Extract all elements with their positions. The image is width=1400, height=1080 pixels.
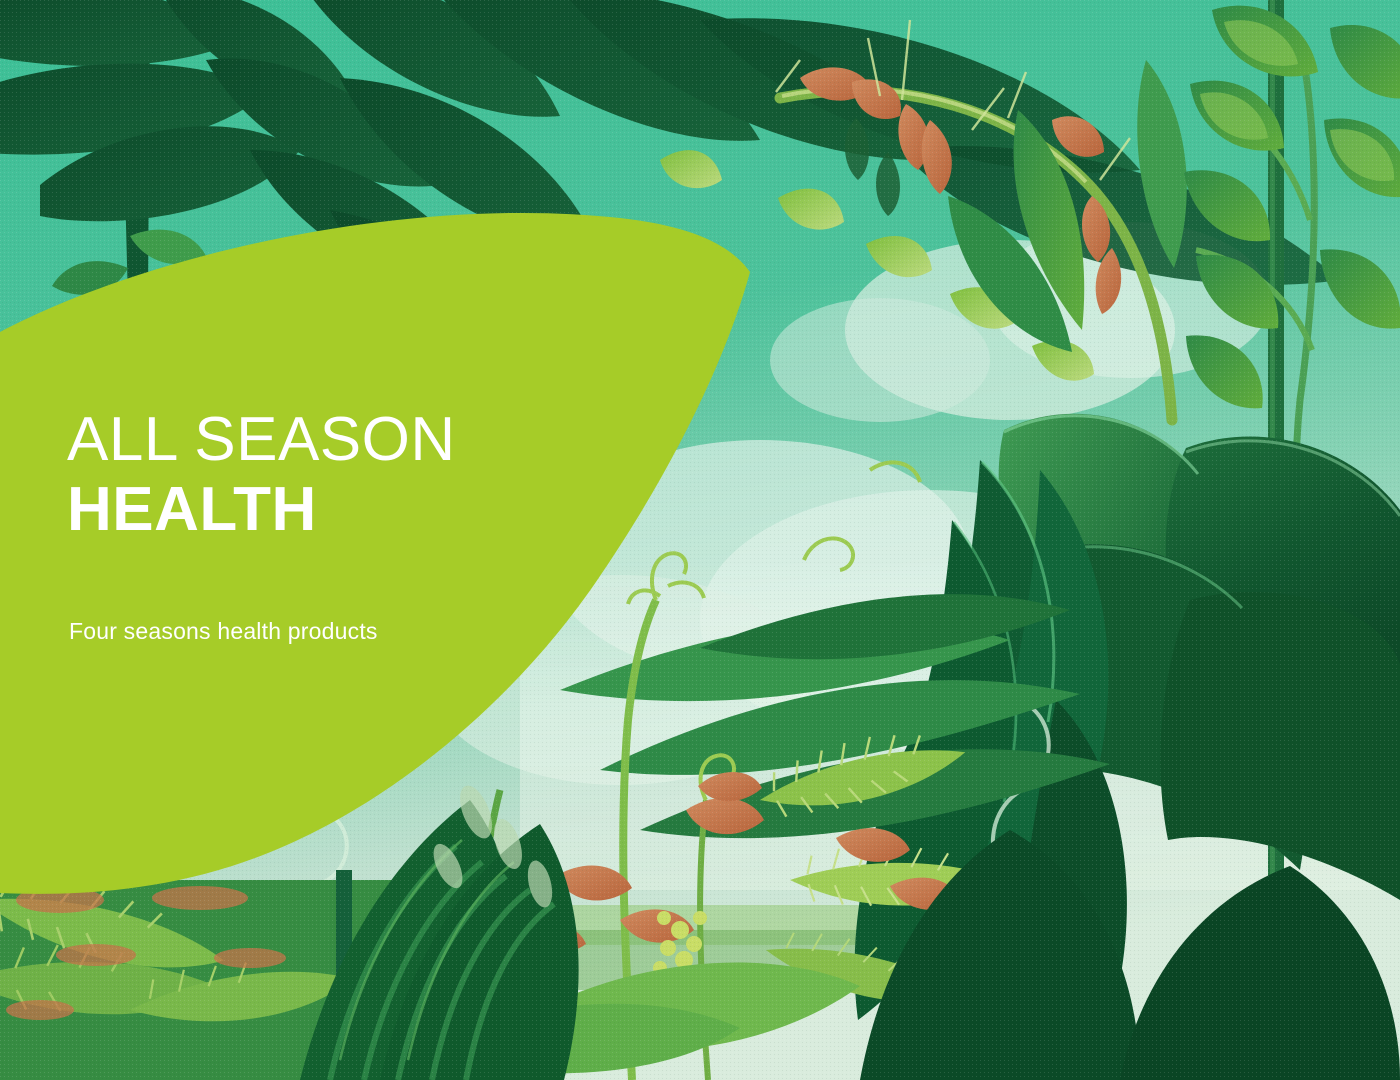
poster-root: ALL SEASON HEALTH Four seasons health pr… (0, 0, 1400, 1080)
botanical-illustration (0, 0, 1400, 1080)
